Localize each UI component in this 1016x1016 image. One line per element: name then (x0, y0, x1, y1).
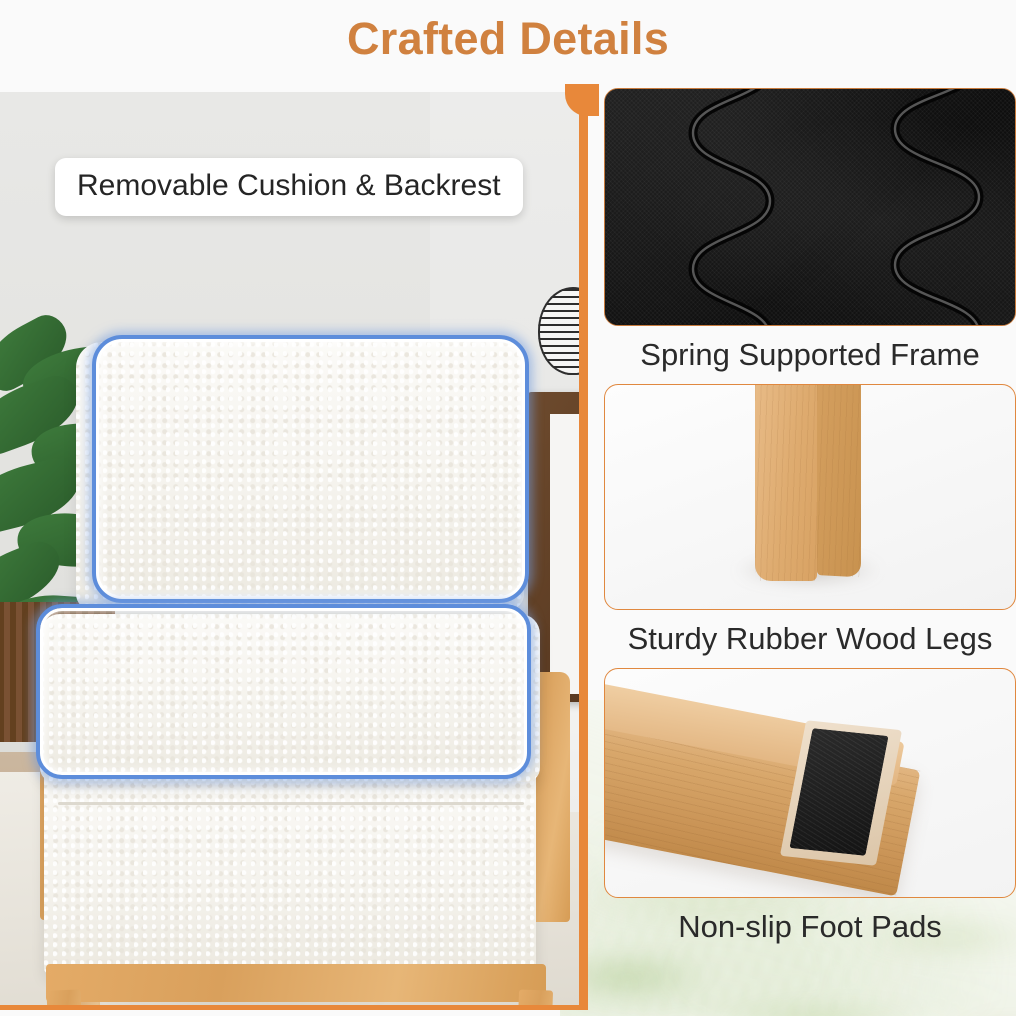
chair-front-right-leg (513, 989, 553, 1005)
accent-chair (18, 242, 578, 1002)
serpentine-spring-right (873, 88, 993, 326)
cushion-seam (58, 802, 524, 805)
serpentine-spring-left (675, 88, 785, 326)
wood-grain-side (817, 384, 861, 577)
feature-card-wood-legs: Sturdy Rubber Wood Legs (604, 384, 1016, 656)
seat-base (44, 762, 536, 974)
removable-cushion-badge: Removable Cushion & Backrest (55, 158, 523, 216)
wood-grain (755, 384, 817, 581)
foot-pad-image (604, 668, 1016, 898)
page-title: Crafted Details (0, 13, 1016, 65)
wood-leg-image (604, 384, 1016, 610)
feature-card-foot-pads: Non-slip Foot Pads (604, 668, 1016, 944)
caption-wood-legs: Sturdy Rubber Wood Legs (604, 610, 1016, 656)
feature-cards-column: Spring Supported Frame Sturdy Rubber Woo… (604, 88, 1016, 944)
feature-card-spring-frame: Spring Supported Frame (604, 88, 1016, 372)
wood-leg-side-face (817, 384, 861, 577)
room-scene (0, 92, 579, 1005)
wood-leg-front-face (755, 384, 817, 581)
backrest-cushion (76, 342, 524, 610)
caption-foot-pads: Non-slip Foot Pads (604, 898, 1016, 944)
spring-frame-image (604, 88, 1016, 326)
seat-cushion (40, 614, 540, 782)
hero-chair-photo (0, 92, 588, 1010)
chair-front-rail (46, 964, 546, 1002)
caption-spring-frame: Spring Supported Frame (604, 326, 1016, 372)
